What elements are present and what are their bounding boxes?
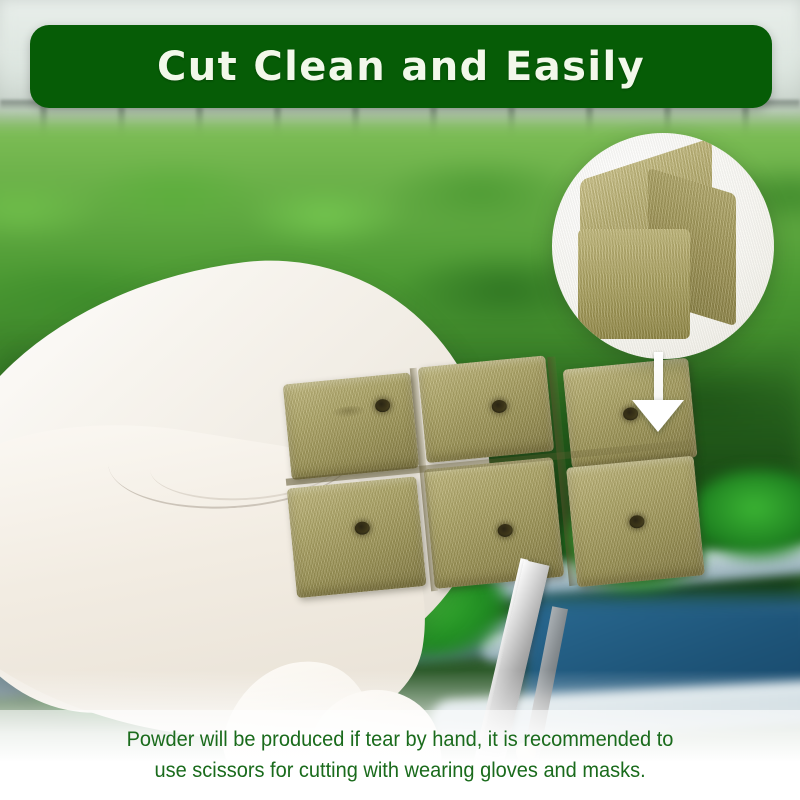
caption-line-1: Powder will be produced if tear by hand,… xyxy=(127,724,674,755)
callout-arrow-head-icon xyxy=(632,400,684,432)
rockwool-cube xyxy=(287,476,427,598)
caption-band: Powder will be produced if tear by hand,… xyxy=(0,710,800,800)
title-banner: Cut Clean and Easily xyxy=(30,25,772,108)
rockwool-cube xyxy=(283,372,420,480)
magnified-cube-inset xyxy=(552,133,774,359)
inset-cube-front-face xyxy=(578,229,690,339)
banner-title-text: Cut Clean and Easily xyxy=(157,44,645,90)
rockwool-cube xyxy=(418,355,555,463)
caption-line-2: use scissors for cutting with wearing gl… xyxy=(154,755,645,786)
product-marketing-image: Cut Clean and Easily Powder will be prod… xyxy=(0,0,800,800)
